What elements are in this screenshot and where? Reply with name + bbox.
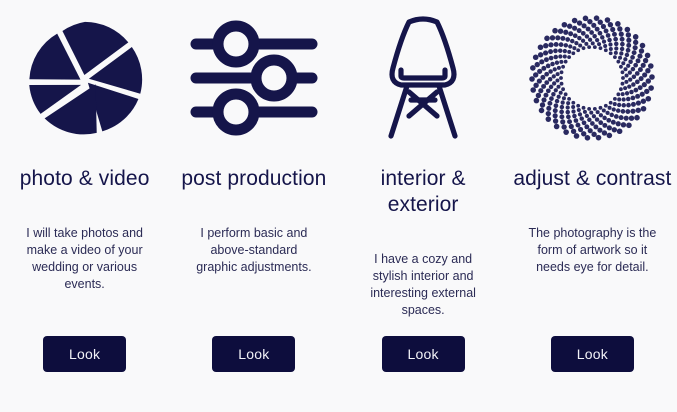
card-title: interior & exterior [343, 166, 503, 218]
card-title: adjust & contrast [513, 166, 671, 192]
look-button[interactable]: Look [212, 336, 295, 372]
card-description: I perform basic and above-standard graph… [189, 225, 319, 276]
service-card-post-production: post production I perform basic and abov… [169, 8, 338, 402]
look-button[interactable]: Look [551, 336, 634, 372]
card-description: The photography is the form of artwork s… [527, 225, 657, 276]
look-button[interactable]: Look [382, 336, 465, 372]
services-grid: photo & video I will take photos and mak… [0, 0, 677, 402]
service-card-adjust-contrast: adjust & contrast The photography is the… [508, 8, 677, 402]
chair-furniture-icon [353, 8, 493, 148]
sliders-adjust-icon [184, 8, 324, 148]
card-description: I have a cozy and stylish interior and i… [358, 251, 488, 319]
service-card-interior-exterior: interior & exterior I have a cozy and st… [339, 8, 508, 402]
dotted-spiral-ring-icon [522, 8, 662, 148]
look-button[interactable]: Look [43, 336, 126, 372]
service-card-photo-video: photo & video I will take photos and mak… [0, 8, 169, 402]
camera-aperture-icon [15, 8, 155, 148]
card-title: photo & video [20, 166, 150, 192]
card-description: I will take photos and make a video of y… [20, 225, 150, 293]
card-title: post production [181, 166, 326, 192]
